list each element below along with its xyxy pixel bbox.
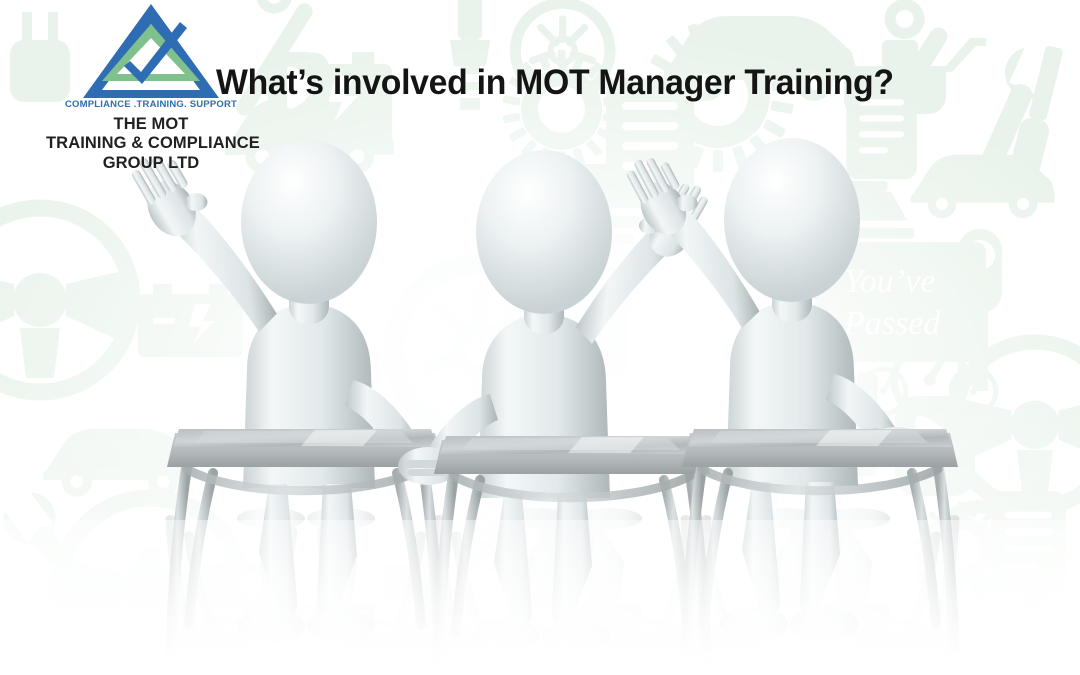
training-banner: You’ve Passed xyxy=(0,0,1080,675)
logo-name-line-1: THE MOT xyxy=(46,115,256,134)
triangle-checkmark-icon xyxy=(81,2,221,102)
page-title: What’s involved in MOT Manager Training? xyxy=(216,65,894,100)
logo-name-line-3: GROUP LTD xyxy=(46,154,256,173)
logo-name-line-2: TRAINING & COMPLIANCE xyxy=(46,134,256,153)
logo-company-name: THE MOT TRAINING & COMPLIANCE GROUP LTD xyxy=(46,115,256,173)
